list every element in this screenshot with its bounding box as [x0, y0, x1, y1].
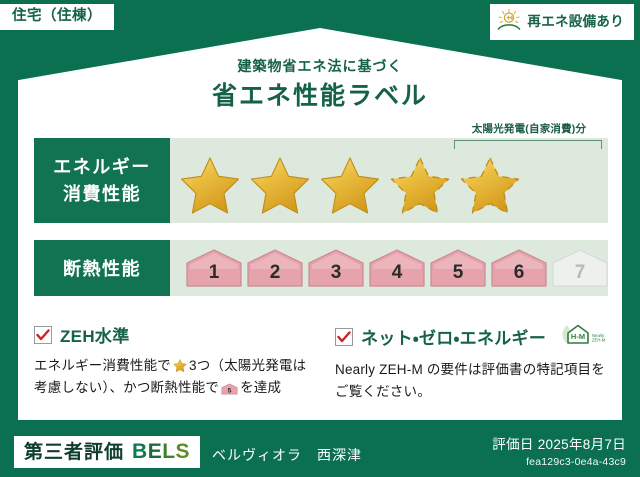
label-title-block: 建築物省エネ法に基づく 省エネ性能ラベル — [0, 58, 640, 111]
bels-jp-label: 第三者評価 — [24, 443, 124, 462]
zeh-checkbox[interactable] — [34, 326, 52, 344]
solar-bracket — [454, 140, 602, 149]
solar-sun-icon — [496, 8, 522, 36]
zeh-title: ZEH水準 — [60, 322, 130, 347]
insulation-level-2: 2 — [245, 247, 305, 289]
nzeb-header: ネット・ゼロ・エネルギー H-M Nearly ZEH-M — [335, 322, 614, 351]
bels-certification-box: 第三者評価 BELS — [14, 436, 200, 468]
zeh-description: エネルギー消費性能で3つ（太陽光発電は考慮しない）、かつ断熱性能で5を達成 — [34, 355, 313, 404]
star-filled — [246, 152, 314, 218]
nzeb-title: ネット・ゼロ・エネルギー — [361, 324, 546, 349]
zeh-criterion: ZEH水準 エネルギー消費性能で3つ（太陽光発電は考慮しない）、かつ断熱性能で5… — [34, 322, 313, 404]
building-type-tag: 住宅（住棟） — [0, 4, 114, 30]
nearly-zeh-m-logo: H-M Nearly ZEH-M — [558, 322, 606, 351]
check-icon — [337, 331, 351, 343]
energy-performance-label: 住宅（住棟） 再エネ設備あり 建築物省エネ法に基づく — [0, 0, 640, 477]
insulation-level-6-value: 6 — [514, 262, 525, 284]
insulation-level-3-value: 3 — [331, 262, 342, 284]
star-filled — [176, 152, 244, 218]
insulation-level-7: 7 — [550, 247, 610, 289]
renewable-badge-label: 再エネ設備あり — [527, 15, 624, 29]
insulation-level-3: 3 — [306, 247, 366, 289]
nzeb-criterion: ネット・ゼロ・エネルギー H-M Nearly ZEH-M Nearly ZEH… — [335, 322, 614, 404]
label-footer: 第三者評価 BELS ベルヴィオラ 西深津 評価日 2025年8月7日 fea1… — [0, 430, 640, 477]
star-solar — [456, 152, 524, 218]
title-subtitle: 建築物省エネ法に基づく — [0, 58, 640, 75]
insulation-level-5-value: 5 — [453, 262, 464, 284]
svg-text:5: 5 — [228, 388, 232, 395]
inline-insulation-level-icon: 5 — [221, 381, 238, 403]
energy-row-label-line1: エネルギー — [53, 154, 151, 180]
star-solar — [386, 152, 454, 218]
criteria-columns: ZEH水準 エネルギー消費性能で3つ（太陽光発電は考慮しない）、かつ断熱性能で5… — [34, 322, 614, 404]
evaluation-id: fea129c3-0e4a-43c9 — [492, 456, 626, 468]
zeh-header: ZEH水準 — [34, 322, 313, 347]
insulation-row-label-text: 断熱性能 — [63, 255, 141, 281]
insulation-level-1-value: 1 — [209, 262, 220, 284]
nzeb-checkbox[interactable] — [335, 328, 353, 346]
insulation-level-6: 6 — [489, 247, 549, 289]
insulation-row-label: 断熱性能 — [34, 240, 170, 296]
insulation-level-1: 1 — [184, 247, 244, 289]
svg-text:H-M: H-M — [571, 332, 585, 341]
nzeb-description: Nearly ZEH-M の要件は評価書の特記項目をご覧ください。 — [335, 359, 614, 404]
solar-generation-note: 太陽光発電(自家消費)分 — [454, 121, 604, 136]
insulation-level-4: 4 — [367, 247, 427, 289]
energy-row-label-line2: 消費性能 — [63, 181, 141, 207]
evaluation-info: 評価日 2025年8月7日 fea129c3-0e4a-43c9 — [492, 436, 626, 468]
insulation-performance-row: 断熱性能 1 2 3 4 5 — [34, 240, 608, 296]
renewable-equipment-badge: 再エネ設備あり — [490, 4, 634, 40]
insulation-level-7-value: 7 — [575, 262, 586, 284]
zeh-desc-part3: を達成 — [240, 380, 281, 395]
bels-logo: BELS — [132, 441, 190, 462]
page-title: 省エネ性能ラベル — [0, 81, 640, 111]
energy-row-label: エネルギー 消費性能 — [34, 138, 170, 223]
check-icon — [36, 329, 50, 341]
insulation-level-2-value: 2 — [270, 262, 281, 284]
evaluation-date: 評価日 2025年8月7日 — [492, 436, 626, 454]
star-rating — [176, 144, 524, 218]
energy-rating-area: 太陽光発電(自家消費)分 — [170, 138, 608, 223]
insulation-level-5: 5 — [428, 247, 488, 289]
svg-text:ZEH-M: ZEH-M — [592, 338, 606, 343]
inline-star-icon — [172, 358, 188, 373]
energy-performance-row: エネルギー 消費性能 太陽光発電(自家消費)分 — [34, 138, 608, 223]
star-filled — [316, 152, 384, 218]
building-name: ベルヴィオラ 西深津 — [212, 445, 362, 465]
insulation-level-4-value: 4 — [392, 262, 403, 284]
insulation-level-area: 1 2 3 4 5 6 7 — [170, 240, 608, 296]
zeh-desc-part1: エネルギー消費性能で — [34, 358, 171, 373]
